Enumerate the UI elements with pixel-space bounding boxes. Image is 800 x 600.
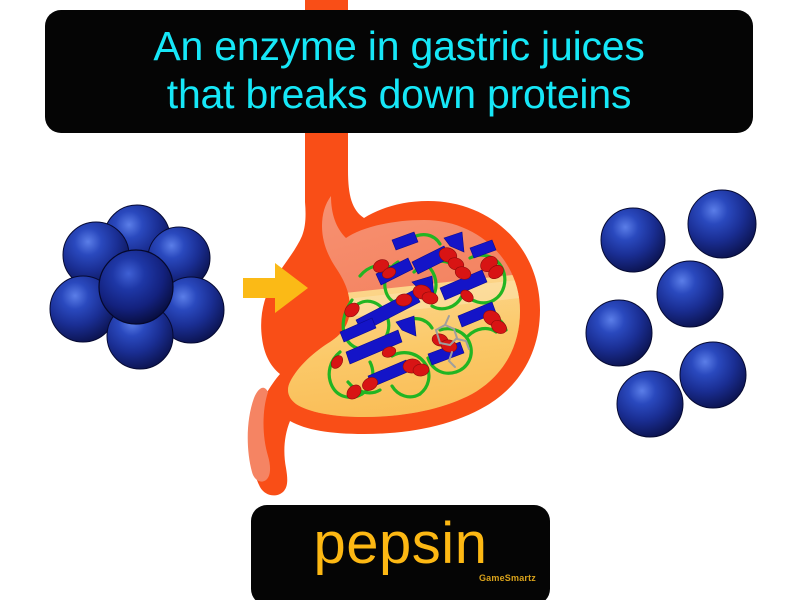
watermark-label: GameSmartz: [479, 573, 536, 583]
definition-line-2: that breaks down proteins: [167, 70, 632, 118]
definition-banner: An enzyme in gastric juices that breaks …: [45, 10, 753, 133]
protein-fragments-scattered: [586, 190, 756, 437]
protein-cluster-intact: [50, 205, 224, 369]
definition-line-1: An enzyme in gastric juices: [153, 22, 644, 70]
term-plate: pepsin GameSmartz: [251, 505, 550, 600]
term-label: pepsin: [251, 513, 550, 575]
definition-card: An enzyme in gastric juices that breaks …: [0, 0, 800, 600]
